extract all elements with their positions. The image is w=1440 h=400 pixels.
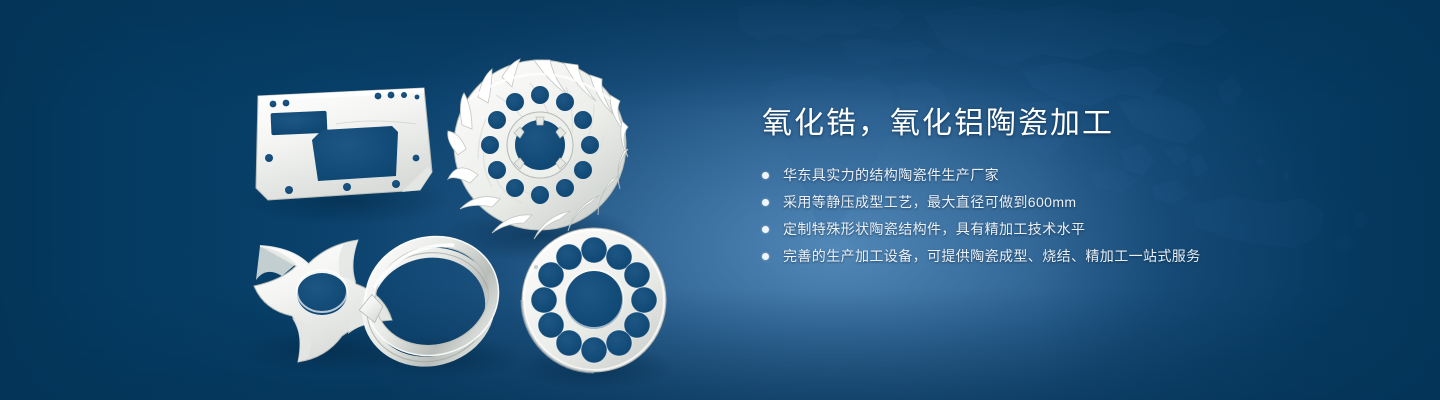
list-item: 华东具实力的结构陶瓷件生产厂家 <box>762 165 1322 186</box>
bullet-icon <box>762 226 769 233</box>
page-title: 氧化锆，氧化铝陶瓷加工 <box>762 106 1322 143</box>
feature-text: 采用等静压成型工艺，最大直径可做到600mm <box>783 192 1076 213</box>
list-item: 完善的生产加工设备，可提供陶瓷成型、烧结、精加工一站式服务 <box>762 246 1322 267</box>
bullet-icon <box>762 253 769 260</box>
list-item: 采用等静压成型工艺，最大直径可做到600mm <box>762 192 1322 213</box>
feature-text: 华东具实力的结构陶瓷件生产厂家 <box>783 165 999 186</box>
hero-banner: 氧化锆，氧化铝陶瓷加工 华东具实力的结构陶瓷件生产厂家 采用等静压成型工艺，最大… <box>0 0 1440 400</box>
feature-text: 完善的生产加工设备，可提供陶瓷成型、烧结、精加工一站式服务 <box>783 246 1201 267</box>
banner-copy: 氧化锆，氧化铝陶瓷加工 华东具实力的结构陶瓷件生产厂家 采用等静压成型工艺，最大… <box>762 106 1322 273</box>
bullet-icon <box>762 172 769 179</box>
feature-text: 定制特殊形状陶瓷结构件，具有精加工技术水平 <box>783 219 1085 240</box>
list-item: 定制特殊形状陶瓷结构件，具有精加工技术水平 <box>762 219 1322 240</box>
bullet-icon <box>762 199 769 206</box>
feature-list: 华东具实力的结构陶瓷件生产厂家 采用等静压成型工艺，最大直径可做到600mm 定… <box>762 165 1322 267</box>
